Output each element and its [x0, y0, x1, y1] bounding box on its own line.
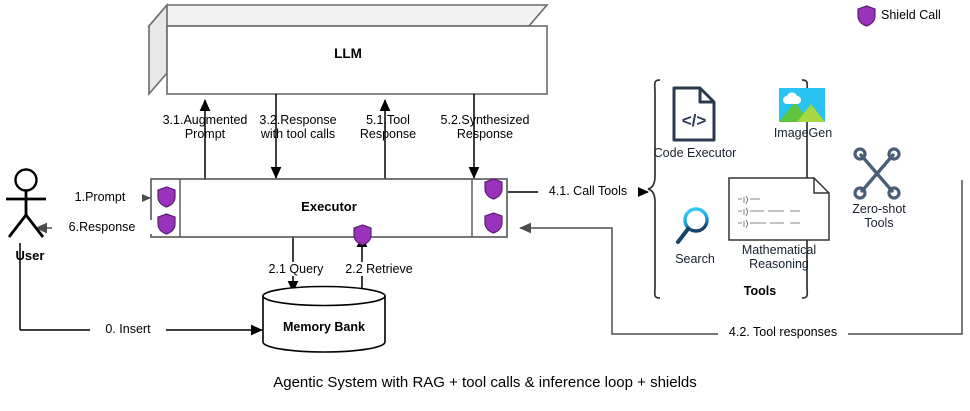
tools-group-left-brace	[646, 78, 662, 300]
memory-bank-node[interactable]	[262, 286, 386, 352]
tools-group-label: Tools	[700, 284, 820, 298]
memory-bank-top	[263, 287, 385, 306]
image-gen-icon[interactable]	[779, 88, 825, 122]
user-leg-left	[9, 215, 26, 237]
zero-shot-tools-label: Zero-shot Tools	[836, 202, 922, 230]
edge-label-5-2: 5.2.Synthesized Response	[420, 113, 550, 141]
shield-icon-executor-out-top	[484, 178, 503, 200]
edge-label-4-1-call-tools: 4.1. Call Tools	[538, 184, 638, 198]
user-label: User	[2, 248, 58, 263]
edge-label-4-2-tool-responses: 4.2. Tool responses	[718, 325, 848, 339]
user-head	[16, 170, 37, 191]
code-executor-label: Code Executor	[650, 146, 740, 160]
shield-icon-executor-in-top	[157, 186, 176, 208]
edge-label-0-insert: 0. Insert	[90, 322, 166, 336]
edge-label-2-1-query: 2.1 Query	[258, 262, 334, 276]
executor-label: Executor	[180, 200, 478, 214]
legend-shield-label: Shield Call	[881, 8, 970, 22]
magnifier-icon[interactable]	[674, 206, 712, 248]
diagram-caption: Agentic System with RAG + tool calls & i…	[0, 374, 970, 391]
memory-bank-label: Memory Bank	[262, 320, 386, 334]
math-document-icon[interactable]	[728, 177, 830, 241]
search-label: Search	[660, 252, 730, 266]
image-gen-label: ImageGen	[762, 126, 844, 140]
code-executor-icon[interactable]: </>	[672, 86, 716, 142]
crossed-wrenches-icon[interactable]	[852, 148, 902, 200]
edge-label-6-response: 6.Response	[52, 220, 152, 234]
user-leg-right	[26, 215, 43, 237]
shield-icon-executor-in-bottom	[157, 213, 176, 235]
svg-text:</>: </>	[682, 111, 707, 130]
math-reasoning-label: Mathematical Reasoning	[716, 243, 842, 271]
shield-icon-executor-out-bottom	[484, 212, 503, 234]
edge-label-2-2-retrieve: 2.2 Retrieve	[334, 262, 424, 276]
shield-icon-executor-memory	[353, 224, 372, 246]
legend-shield-icon	[857, 5, 876, 27]
edge-label-1-prompt: 1.Prompt	[58, 190, 142, 204]
